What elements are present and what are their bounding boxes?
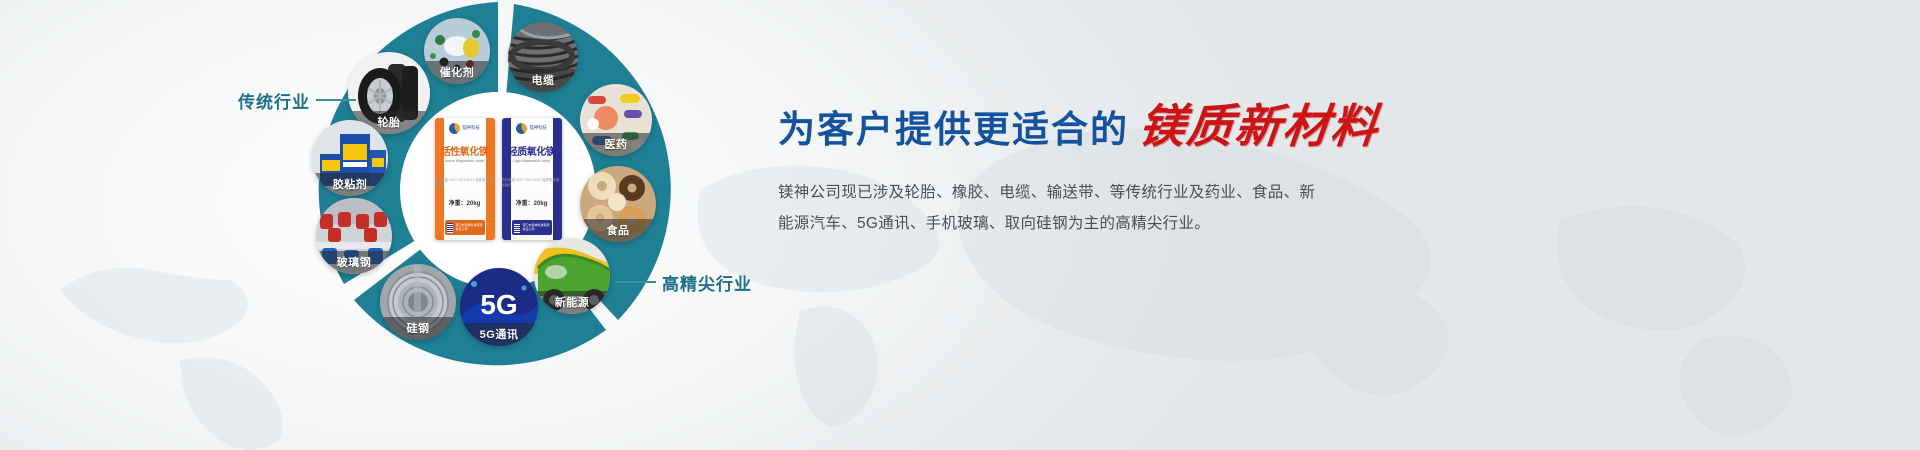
wheel-node-label: 胶粘剂 (312, 173, 388, 196)
brand-logo-icon (449, 123, 460, 134)
bag-footer: 营口市镁神科技有限责任公司 (512, 220, 552, 235)
wheel-node-new-energy[interactable]: 新能源 (534, 238, 610, 314)
section-connector-high-tech (616, 281, 656, 283)
bag-spec: 执行标准 HG/T 2573-2012 轻质氧化镁 优级品 (502, 177, 562, 187)
wheel-node-adhesive[interactable]: 胶粘剂 (312, 120, 388, 196)
bag-brand-cn: 镁神科技 (529, 126, 546, 131)
qr-code-icon (447, 223, 454, 233)
hero-banner: 镁神科技 活性氧化镁 Active Magnesium oxide 执行标准 H… (0, 0, 1920, 450)
bag-brand-cn: 镁神科技 (462, 126, 479, 131)
wheel-node-label: 硅钢 (380, 317, 456, 340)
bag-title-cn: 轻质氧化镁 (508, 143, 556, 158)
section-connector-traditional (316, 99, 356, 101)
wheel-node-frp[interactable]: 玻璃钢 (316, 198, 392, 274)
section-label-high-tech: 高精尖行业 (662, 270, 752, 295)
bag-brand: 镁神科技 (449, 123, 479, 134)
product-bag-group: 镁神科技 活性氧化镁 Active Magnesium oxide 执行标准 H… (430, 118, 566, 246)
banner-body: 镁神公司现已涉及轮胎、橡胶、电缆、输送带、等传统行业及药业、食品、新 能源汽车、… (778, 177, 1378, 239)
banner-headline: 为客户提供更适合的 镁质新材料 (778, 104, 1478, 151)
product-bag-active-mgo[interactable]: 镁神科技 活性氧化镁 Active Magnesium oxide 执行标准 H… (435, 118, 495, 240)
banner-copy: 为客户提供更适合的 镁质新材料 镁神公司现已涉及轮胎、橡胶、电缆、输送带、等传统… (778, 104, 1478, 239)
bag-footer: 营口市镁神科技有限责任公司 (445, 220, 485, 235)
headline-blue-text: 为客户提供更适合的 (778, 110, 1129, 151)
headline-red-text: 镁质新材料 (1137, 104, 1382, 150)
wheel-node-label: 催化剂 (424, 61, 490, 84)
bag-weight: 净重：20kg (449, 198, 481, 207)
qr-code-icon (514, 223, 521, 233)
wheel-node-5g[interactable]: 5G 5G通讯 (460, 268, 538, 346)
bag-weight: 净重：20kg (516, 198, 548, 207)
bag-footer-text: 营口市镁神科技有限责任公司 (522, 224, 549, 231)
section-label-traditional: 传统行业 (238, 88, 310, 113)
wheel-node-label: 电缆 (508, 69, 578, 92)
5g-badge-text: 5G (480, 289, 517, 320)
wheel-node-label: 新能源 (534, 291, 610, 314)
wheel-node-label: 5G通讯 (460, 323, 538, 346)
banner-body-line-1: 镁神公司现已涉及轮胎、橡胶、电缆、输送带、等传统行业及药业、食品、新 (778, 177, 1378, 208)
brand-logo-icon (516, 123, 527, 134)
industry-wheel: 镁神科技 活性氧化镁 Active Magnesium oxide 执行标准 H… (318, 0, 678, 380)
bag-title-en: Light Magnesium oxide (513, 159, 550, 163)
product-bag-light-mgo[interactable]: 镁神科技 轻质氧化镁 Light Magnesium oxide 执行标准 HG… (502, 118, 562, 240)
bag-title-cn: 活性氧化镁 (441, 143, 489, 158)
bag-footer-text: 营口市镁神科技有限责任公司 (455, 224, 482, 231)
wheel-node-silicon-steel[interactable]: 硅钢 (380, 264, 456, 340)
banner-body-line-2: 能源汽车、5G通讯、手机玻璃、取向硅钢为主的高精尖行业。 (778, 208, 1378, 239)
wheel-node-cable[interactable]: 电缆 (508, 22, 578, 92)
bag-brand: 镁神科技 (516, 123, 546, 134)
wheel-node-food[interactable]: 食品 (580, 166, 656, 242)
bag-title-en: Active Magnesium oxide (445, 159, 484, 163)
wheel-node-medicine[interactable]: 医药 (580, 84, 652, 156)
bag-spec: 执行标准 HG/T 2573-2012 活性氧化镁 优级品 (435, 177, 495, 187)
wheel-node-catalyst[interactable]: 催化剂 (424, 18, 490, 84)
wheel-node-label: 医药 (580, 133, 652, 156)
